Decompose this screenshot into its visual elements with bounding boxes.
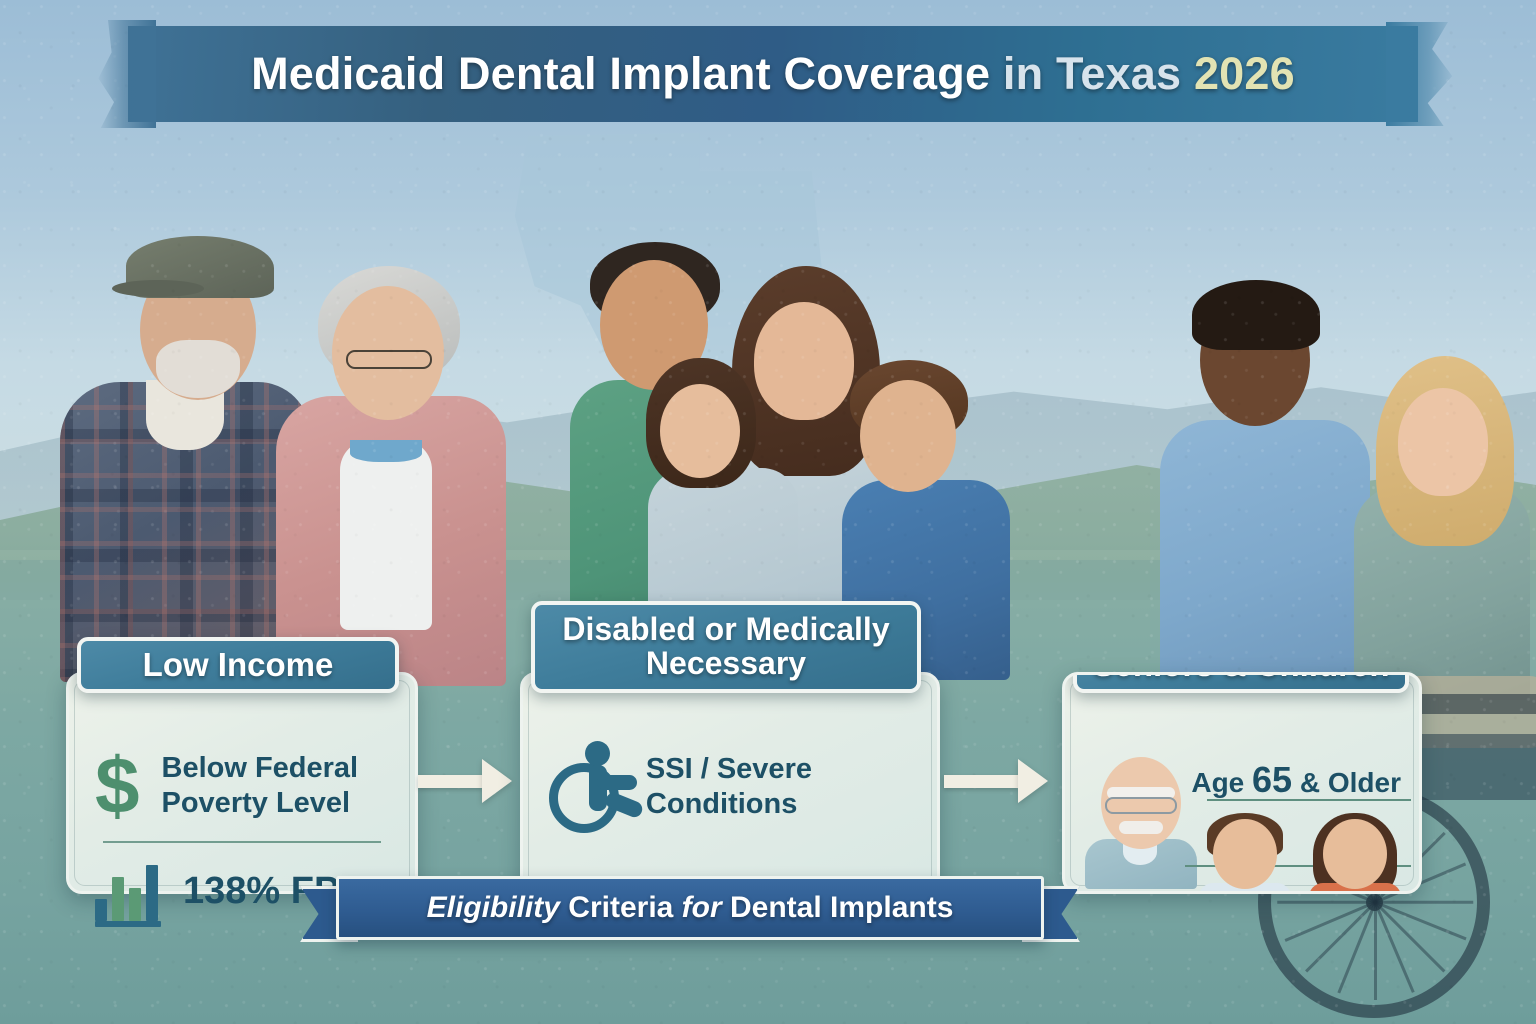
card-divider <box>103 841 381 843</box>
ribbon-word-for: for <box>682 891 722 924</box>
arrow-shaft <box>944 775 1018 788</box>
seniors-age-text: Age 65 & Older <box>1173 759 1401 801</box>
card-disabled-medically-necessary[interactable]: Disabled or Medically Necessary SSI / Se… <box>520 672 940 894</box>
ribbon-word-criteria: Criteria <box>560 891 682 924</box>
bar-chart-icon <box>95 863 161 921</box>
card-disabled-header-line1: Disabled or Medically <box>562 613 889 647</box>
title-banner: Medicaid Dental Implant Coverage in Texa… <box>128 26 1418 122</box>
title-main: Medicaid Dental Implant Coverage <box>251 48 990 99</box>
title-in: in <box>990 48 1056 99</box>
arrow-tip <box>1018 759 1048 803</box>
arrow-connector-2 <box>944 768 1048 794</box>
arrow-connector-1 <box>418 768 512 794</box>
elderly-couple-photo <box>40 200 510 670</box>
arrow-tip <box>482 759 512 803</box>
age-prefix: Age <box>1191 767 1252 798</box>
card-divider-top <box>1207 799 1411 801</box>
age-number: 65 <box>1252 759 1292 800</box>
arrow-shaft <box>418 775 482 788</box>
ribbon-word-dental-implants: Dental Implants <box>722 891 954 924</box>
age-suffix: & Older <box>1292 767 1401 798</box>
card-seniors-body: Age 65 & Older <box>1065 675 1419 891</box>
children-photo <box>1193 813 1409 894</box>
page-title: Medicaid Dental Implant Coverage in Texa… <box>251 48 1295 100</box>
card-low-income[interactable]: Low Income $ Below Federal Poverty Level… <box>66 672 418 894</box>
low-income-primary-row: $ Below Federal Poverty Level <box>95 751 389 821</box>
card-low-income-body: $ Below Federal Poverty Level 138% FPL <box>69 675 415 891</box>
child-boy <box>1193 813 1297 894</box>
ribbon-text: Eligibility Criteria for Dental Implants <box>427 891 954 925</box>
adults-photo <box>1160 250 1536 680</box>
disabled-primary-row: SSI / Severe Conditions <box>549 741 911 833</box>
ribbon-word-eligibility: Eligibility <box>427 891 560 924</box>
ribbon-band: Eligibility Criteria for Dental Implants <box>336 876 1044 940</box>
dollar-sign-icon: $ <box>95 754 140 818</box>
wheelchair-icon <box>549 741 624 833</box>
eligibility-ribbon: Eligibility Criteria for Dental Implants <box>300 876 1080 940</box>
card-seniors-children[interactable]: Seniors & Children Age 65 & Older <box>1062 672 1422 894</box>
title-texas: Texas <box>1056 48 1181 99</box>
child-girl <box>1303 813 1407 894</box>
low-income-primary-text: Below Federal Poverty Level <box>162 751 390 821</box>
card-disabled-body: SSI / Severe Conditions <box>523 675 937 891</box>
disabled-primary-text: SSI / Severe Conditions <box>646 752 911 822</box>
title-year: 2026 <box>1194 48 1295 99</box>
